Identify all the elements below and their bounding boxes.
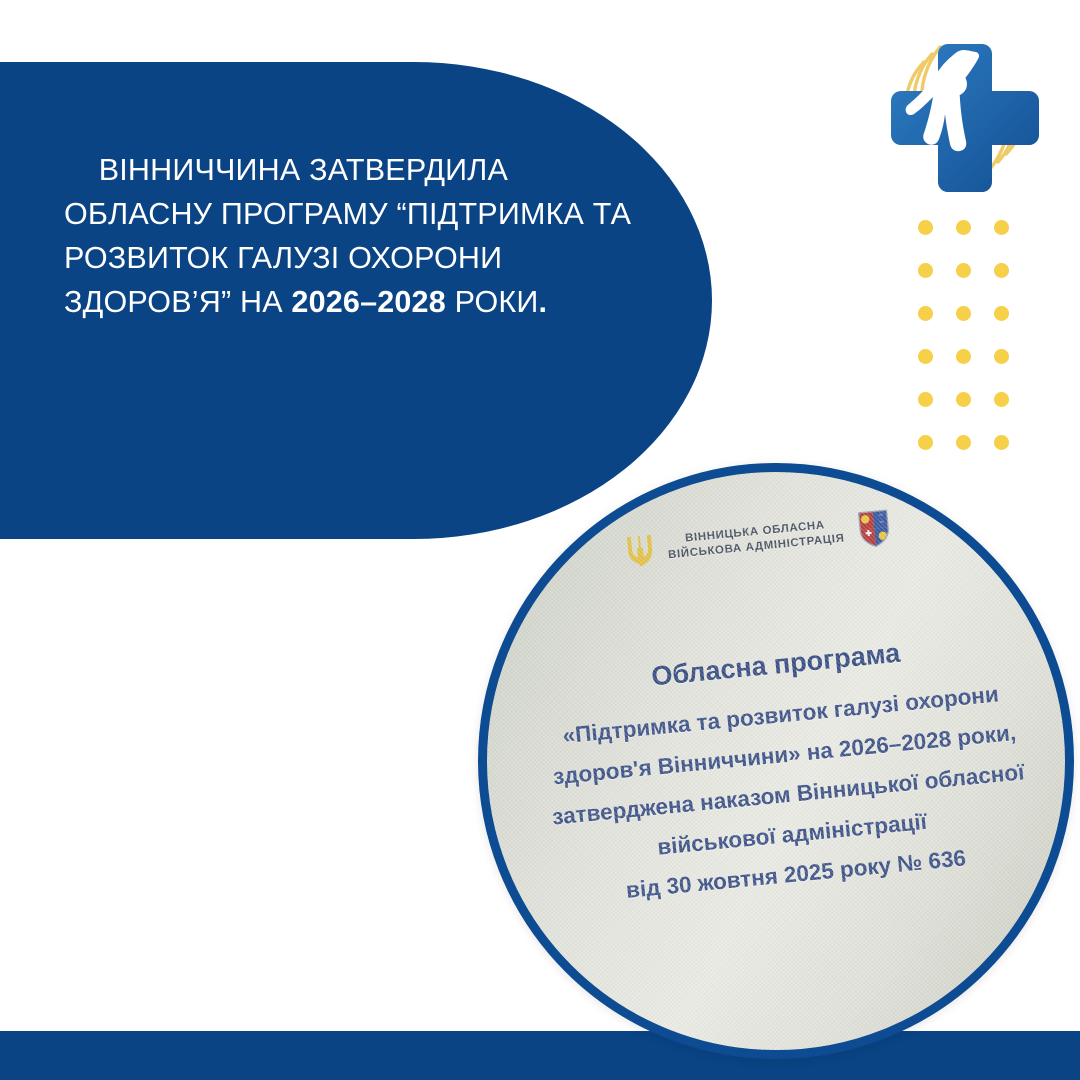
grid-dot (994, 306, 1009, 321)
grid-dot (956, 220, 971, 235)
decorative-dot-grid (918, 220, 1032, 478)
grid-dot (956, 349, 971, 364)
grid-dot (918, 435, 933, 450)
grid-dot (956, 263, 971, 278)
document-header: ВІННИЦЬКА ОБЛАСНА ВІЙСЬКОВА АДМІНІСТРАЦІ… (573, 503, 945, 576)
grid-dot (918, 220, 933, 235)
document-sheet: ВІННИЦЬКА ОБЛАСНА ВІЙСЬКОВА АДМІНІСТРАЦІ… (478, 463, 1074, 1059)
program-document-photo: ВІННИЦЬКА ОБЛАСНА ВІЙСЬКОВА АДМІНІСТРАЦІ… (478, 463, 1074, 1059)
document-body: Обласна програма «Підтримка та розвиток … (501, 621, 1070, 920)
health-care-cross-logo (872, 22, 1058, 194)
grid-dot (994, 349, 1009, 364)
poster-canvas: ВІННИЧЧИНА ЗАТВЕРДИЛА ОБЛАСНУ ПРОГРАМУ “… (0, 0, 1080, 1080)
vinnytsia-coat-of-arms-icon (856, 508, 891, 549)
grid-dot (994, 435, 1009, 450)
grid-dot (918, 263, 933, 278)
headline-period: . (538, 285, 547, 319)
document-header-title: ВІННИЦЬКА ОБЛАСНА ВІЙСЬКОВА АДМІНІСТРАЦІ… (666, 517, 845, 564)
grid-dot (994, 263, 1009, 278)
page-title: ВІННИЧЧИНА ЗАТВЕРДИЛА ОБЛАСНУ ПРОГРАМУ “… (64, 104, 664, 368)
grid-dot (918, 349, 933, 364)
headline-part-2: РОКИ (446, 285, 539, 319)
grid-dot (918, 392, 933, 407)
grid-dot (994, 220, 1009, 235)
ukraine-trident-icon (626, 533, 655, 569)
grid-dot (918, 306, 933, 321)
grid-dot (956, 392, 971, 407)
grid-dot (956, 306, 971, 321)
headline-years: 2026–2028 (291, 285, 445, 319)
grid-dot (994, 392, 1009, 407)
grid-dot (956, 435, 971, 450)
